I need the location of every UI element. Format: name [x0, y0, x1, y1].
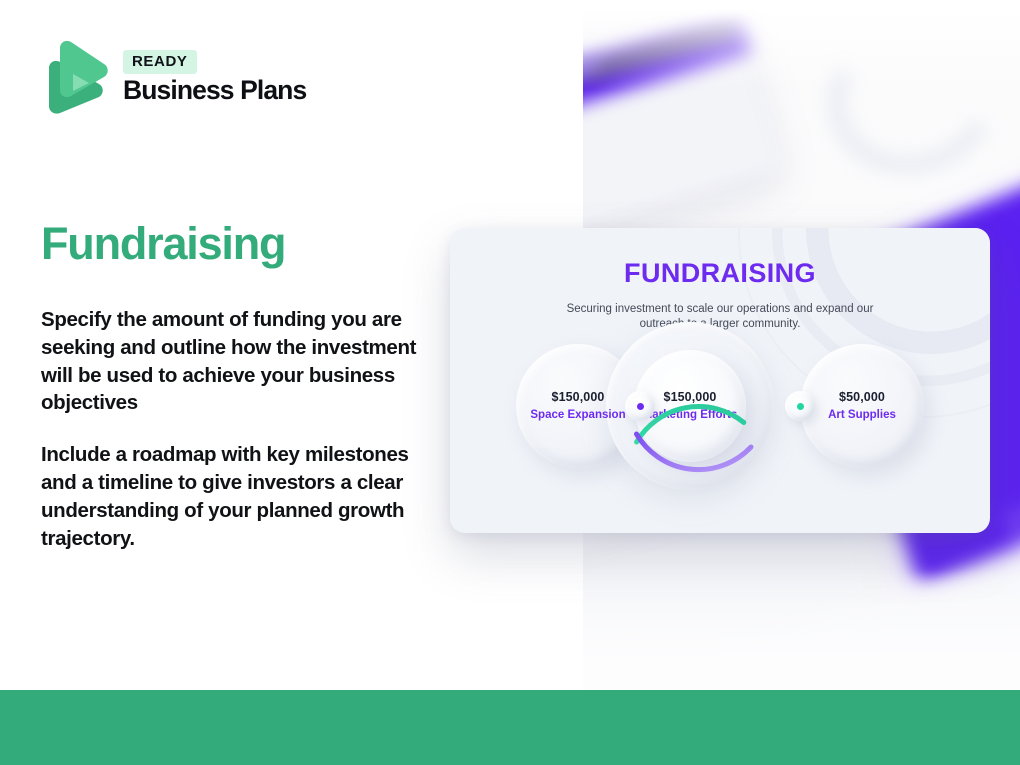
paragraph-2: Include a roadmap with key milestones an…: [41, 441, 431, 552]
node-amount: $150,000: [552, 390, 605, 405]
footer-bar: [0, 690, 1020, 765]
node-art-supplies[interactable]: $50,000 Art Supplies: [800, 344, 924, 468]
node-amount: $150,000: [664, 390, 717, 405]
connector-left: [625, 391, 655, 421]
node-label: Art Supplies: [828, 409, 896, 423]
ready-badge: READY: [123, 50, 197, 74]
paragraph-1: Specify the amount of funding you are se…: [41, 306, 431, 417]
connector-dot-green-icon: [797, 403, 804, 410]
page-title: Fundraising: [41, 218, 285, 270]
bg-fade-top: [583, 0, 1020, 90]
node-amount: $50,000: [839, 390, 885, 405]
brand-text-block: READY Business Plans: [123, 50, 306, 105]
brand-lockup: READY Business Plans: [41, 38, 306, 116]
fundraising-card: FUNDRAISING Securing investment to scale…: [450, 228, 990, 533]
slide-root: READY Business Plans Fundraising Specify…: [0, 0, 1020, 765]
bg-fade-bottom: [583, 570, 1020, 690]
brand-name: Business Plans: [123, 77, 306, 105]
node-label: Space Expansion: [530, 409, 625, 423]
funding-diagram: $150,000 Space Expansion $50,000 Art Sup…: [450, 338, 990, 503]
card-title: FUNDRAISING: [450, 258, 990, 289]
play-triangle-logo-icon: [41, 38, 109, 116]
connector-dot-purple-icon: [637, 403, 644, 410]
node-label: Marketing Efforts: [643, 409, 738, 423]
body-copy: Specify the amount of funding you are se…: [41, 306, 431, 552]
connector-right: [785, 391, 815, 421]
